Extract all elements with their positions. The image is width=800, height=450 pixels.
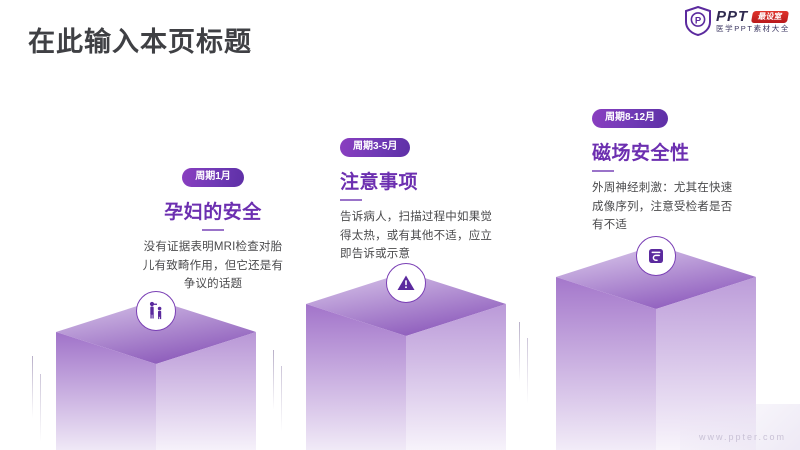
logo-text-block: PPT 最设室 医学PPT素材大全 <box>716 9 790 33</box>
column-3-rule <box>592 170 614 172</box>
watermark: www.ppter.com <box>699 432 786 442</box>
logo-brand: PPT <box>716 9 748 24</box>
icon-badge-3 <box>636 236 676 276</box>
decor-line-3 <box>273 350 274 410</box>
icon-badge-2 <box>386 263 426 303</box>
column-3-body: 外周神经刺激：尤其在快速成像序列，注意受检者是否有不适 <box>592 179 742 235</box>
decor-line-5 <box>519 322 520 382</box>
watermark-backdrop <box>680 404 800 450</box>
column-2-title: 注意事项 <box>340 167 570 194</box>
column-1-body: 没有证据表明MRI检查对胎儿有致畸作用，但它还是有争议的话题 <box>138 238 288 294</box>
decor-line-4 <box>281 366 282 432</box>
column-3-badge: 周期8-12月 <box>592 109 668 128</box>
icon-badge-1 <box>136 291 176 331</box>
decor-line-6 <box>527 338 528 404</box>
decor-line-1 <box>32 356 33 418</box>
column-2-body: 告诉病人，扫描过程中如果觉得太热，或有其他不适，应立即告诉或示意 <box>340 208 500 264</box>
family-icon <box>145 300 167 322</box>
shield-icon: P <box>685 6 711 36</box>
column-3-title: 磁场安全性 <box>592 138 800 165</box>
svg-text:P: P <box>695 15 702 26</box>
column-1-title: 孕妇的安全 <box>98 197 328 224</box>
logo-primary-row: PPT 最设室 <box>716 9 790 24</box>
column-2-rule <box>340 199 362 201</box>
column-1-badge: 周期1月 <box>182 168 244 187</box>
page-title: 在此输入本页标题 <box>28 20 252 59</box>
warning-triangle-icon <box>395 272 417 294</box>
column-1-rule <box>202 229 224 231</box>
logo-badge: 最设室 <box>751 11 789 23</box>
column-1: 周期1月 孕妇的安全 没有证据表明MRI检查对胎儿有致畸作用，但它还是有争议的话… <box>98 166 328 294</box>
logo-subtitle: 医学PPT素材大全 <box>716 25 790 33</box>
slide-canvas: 在此输入本页标题 P PPT 最设室 医学PPT素材大全 <box>0 0 800 450</box>
column-2-badge: 周期3-5月 <box>340 138 410 157</box>
decor-line-2 <box>40 374 41 442</box>
column-2: 周期3-5月 注意事项 告诉病人，扫描过程中如果觉得太热，或有其他不适，应立即告… <box>340 136 570 264</box>
magnet-device-icon <box>645 245 667 267</box>
brand-logo: P PPT 最设室 医学PPT素材大全 <box>685 6 790 36</box>
column-3: 周期8-12月 磁场安全性 外周神经刺激：尤其在快速成像序列，注意受检者是否有不… <box>592 107 800 235</box>
